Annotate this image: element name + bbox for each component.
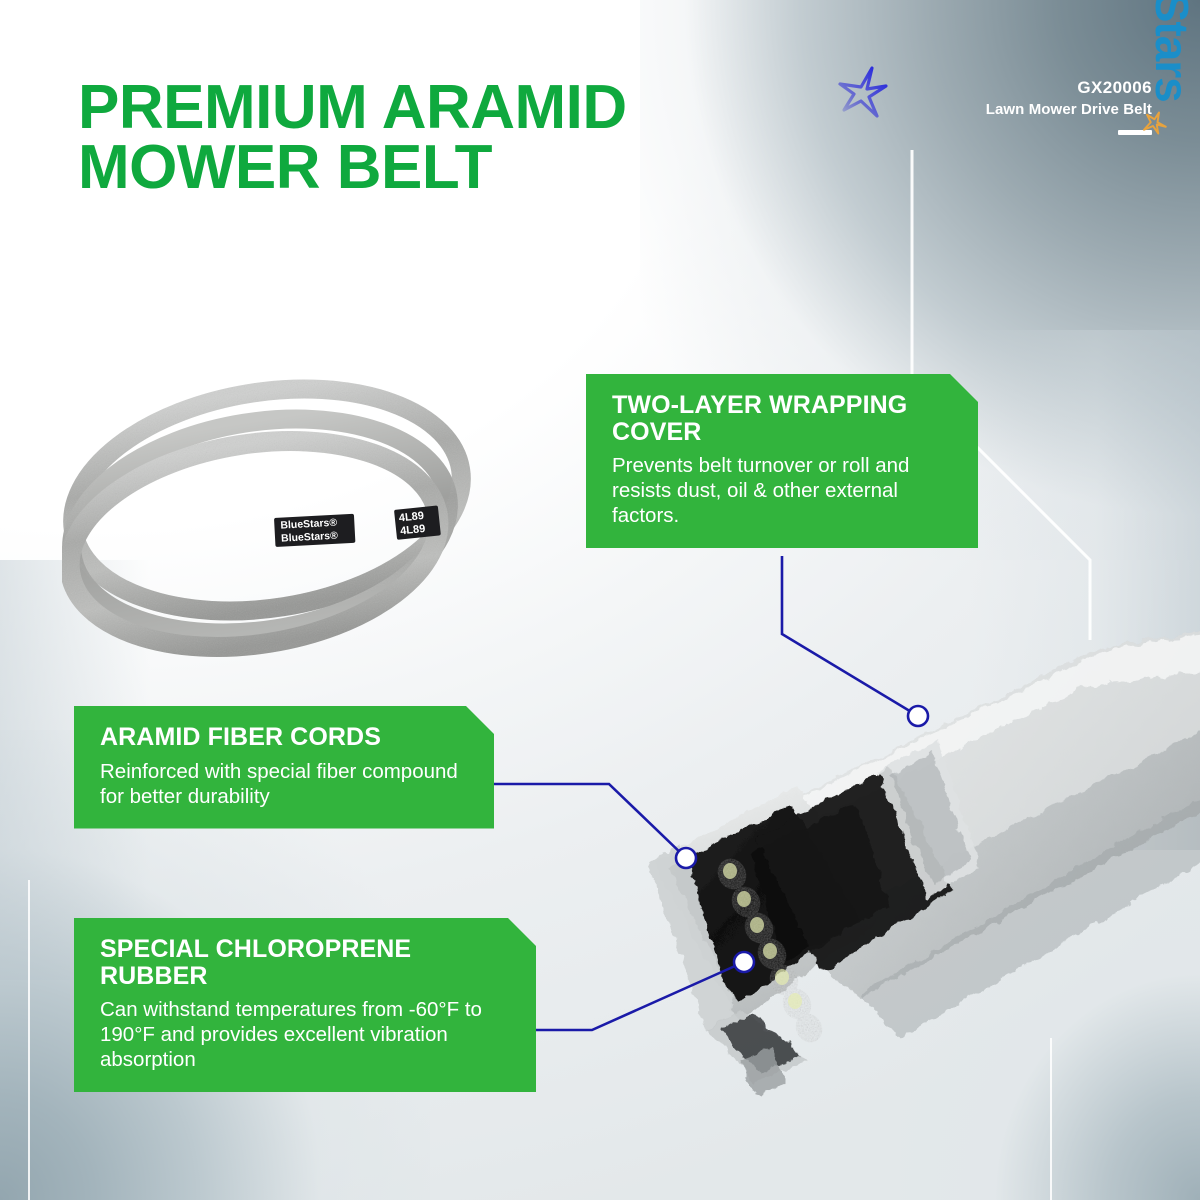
decorative-vertical-line-left (28, 880, 30, 1200)
belt-label-brand: BlueStars® BlueStars® (274, 514, 355, 547)
product-photo-belt-coil: BlueStars® BlueStars® 4L89 4L89 (62, 368, 472, 658)
sku-name: Lawn Mower Drive Belt (986, 101, 1152, 118)
brand-star-icon (1138, 108, 1168, 138)
callout-two-layer-wrapping-cover: TWO-LAYER WRAPPING COVER Prevents belt t… (586, 374, 978, 548)
title-line-2: MOWER BELT (78, 138, 878, 198)
callout-heading: ARAMID FIBER CORDS (100, 724, 468, 751)
callout-heading: SPECIAL CHLOROPRENE RUBBER (100, 936, 510, 989)
callout-body: Reinforced with special fiber compound f… (100, 759, 468, 809)
callout-heading: TWO-LAYER WRAPPING COVER (612, 392, 952, 445)
belt-label-size: 4L89 4L89 (394, 505, 441, 539)
star-icon (828, 62, 898, 132)
brand-name-part2: Stars (1145, 0, 1199, 102)
callout-body: Prevents belt turnover or roll and resis… (612, 453, 952, 528)
callout-aramid-fiber-cords: ARAMID FIBER CORDS Reinforced with speci… (74, 706, 494, 829)
sku-block: GX20006 Lawn Mower Drive Belt (986, 78, 1152, 135)
sku-code: GX20006 (986, 78, 1152, 98)
product-photo-belt-cross-section (560, 590, 1200, 1150)
brand-logo: Blue Stars (1136, 0, 1200, 210)
infographic-canvas: PREMIUM ARAMID MOWER BELT GX20006 Lawn M… (0, 0, 1200, 1200)
title-line-1: PREMIUM ARAMID (78, 73, 627, 142)
callout-body: Can withstand temperatures from -60°F to… (100, 997, 510, 1072)
page-title: PREMIUM ARAMID MOWER BELT (78, 78, 878, 198)
callout-special-chloroprene-rubber: SPECIAL CHLOROPRENE RUBBER Can withstand… (74, 918, 536, 1092)
